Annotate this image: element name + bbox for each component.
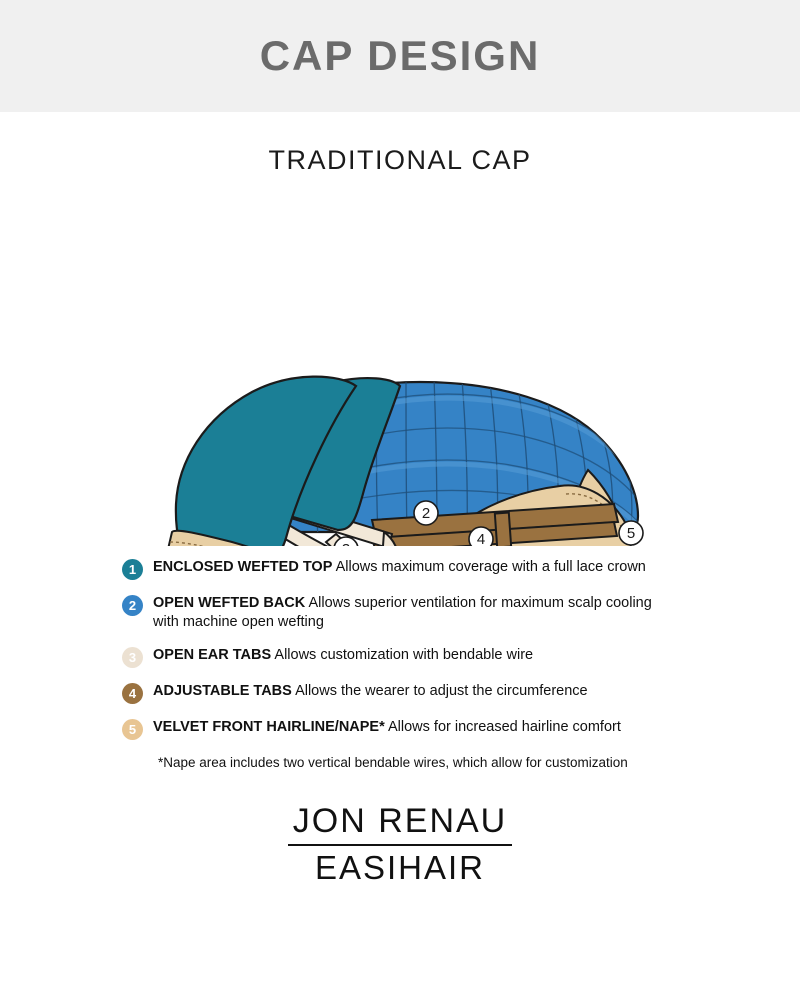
legend-label-1: ENCLOSED WEFTED TOP: [153, 559, 332, 575]
brand-divider: [288, 844, 512, 846]
legend-list: 1 ENCLOSED WEFTED TOP Allows maximum cov…: [0, 558, 678, 740]
legend-item-2: 2 OPEN WEFTED BACK Allows superior venti…: [122, 594, 678, 632]
brand-name-primary: JON RENAU: [0, 802, 800, 841]
legend-item-4: 4 ADJUSTABLE TABS Allows the wearer to a…: [122, 682, 678, 704]
legend-item-5: 5 VELVET FRONT HAIRLINE/NAPE* Allows for…: [122, 718, 678, 740]
legend-badge-4: 4: [122, 683, 143, 704]
legend-text-2: OPEN WEFTED BACK Allows superior ventila…: [153, 594, 678, 632]
page-title: CAP DESIGN: [260, 32, 541, 80]
legend-badge-1: 1: [122, 559, 143, 580]
cap-illustration-svg: 1 2 3 4 5 5: [0, 186, 800, 546]
callout-4-label: 4: [477, 531, 485, 546]
diagram-callout-5-right: 5: [619, 521, 643, 545]
cap-diagram: 1 2 3 4 5 5: [0, 186, 800, 546]
legend-desc-3: Allows customization with bendable wire: [274, 647, 533, 663]
legend-label-3: OPEN EAR TABS: [153, 647, 271, 663]
legend-text-1: ENCLOSED WEFTED TOP Allows maximum cover…: [153, 558, 646, 577]
page-header: CAP DESIGN: [0, 0, 800, 112]
legend-label-5: VELVET FRONT HAIRLINE/NAPE*: [153, 719, 385, 735]
legend-badge-2: 2: [122, 595, 143, 616]
diagram-callout-2: 2: [414, 501, 438, 525]
legend-label-4: ADJUSTABLE TABS: [153, 683, 292, 699]
legend-text-4: ADJUSTABLE TABS Allows the wearer to adj…: [153, 682, 588, 701]
footnote: *Nape area includes two vertical bendabl…: [0, 754, 800, 772]
callout-2-label: 2: [422, 505, 430, 522]
legend-text-3: OPEN EAR TABS Allows customization with …: [153, 646, 533, 665]
legend-desc-4: Allows the wearer to adjust the circumfe…: [295, 683, 588, 699]
legend-desc-5: Allows for increased hairline comfort: [388, 719, 621, 735]
callout-5-right-label: 5: [627, 525, 635, 542]
section-subtitle: TRADITIONAL CAP: [0, 145, 800, 176]
legend-badge-5: 5: [122, 719, 143, 740]
legend-item-1: 1 ENCLOSED WEFTED TOP Allows maximum cov…: [122, 558, 678, 580]
legend-text-5: VELVET FRONT HAIRLINE/NAPE* Allows for i…: [153, 718, 621, 737]
diagram-callout-4: 4: [469, 527, 493, 546]
brand-name-secondary: EASIHAIR: [0, 849, 800, 887]
legend-label-2: OPEN WEFTED BACK: [153, 595, 305, 611]
legend-badge-3: 3: [122, 647, 143, 668]
legend-item-3: 3 OPEN EAR TABS Allows customization wit…: [122, 646, 678, 668]
callout-3-label: 3: [342, 541, 350, 546]
legend-desc-1: Allows maximum coverage with a full lace…: [336, 559, 646, 575]
brand-logo: JON RENAU EASIHAIR: [0, 802, 800, 887]
tab-slider: [495, 513, 511, 546]
